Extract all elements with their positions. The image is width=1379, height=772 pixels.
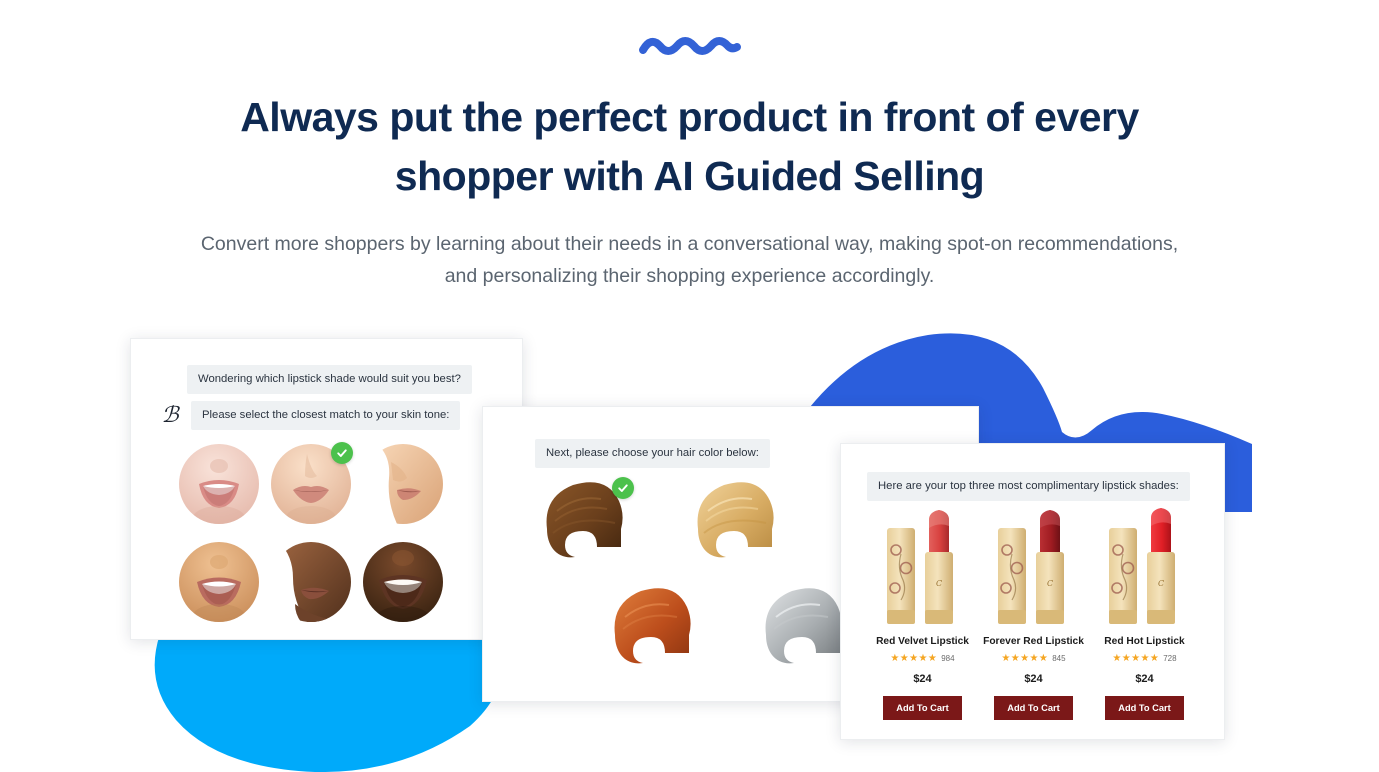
rating-count: 984 — [941, 654, 954, 663]
add-to-cart-button[interactable]: Add To Cart — [994, 696, 1073, 720]
svg-text:C: C — [935, 579, 941, 588]
chat-bubble-question: Wondering which lipstick shade would sui… — [187, 365, 472, 394]
add-to-cart-button[interactable]: Add To Cart — [1105, 696, 1184, 720]
stars-icon: ★★★★★ — [890, 653, 937, 664]
product-price: $24 — [978, 673, 1089, 685]
squiggle-decoration — [0, 34, 1379, 60]
skin-tone-photo — [363, 542, 443, 622]
hair-color-option-blonde[interactable] — [686, 477, 789, 562]
skin-tone-photo — [179, 444, 259, 524]
product-image: C — [978, 502, 1089, 630]
add-to-cart-button[interactable]: Add To Cart — [883, 696, 962, 720]
skin-tone-photo — [179, 542, 259, 622]
skin-tone-option-5[interactable] — [271, 542, 351, 622]
hair-swatch — [686, 477, 789, 562]
product-rating: ★★★★★ 984 — [867, 653, 978, 664]
cyan-blob-decoration — [140, 634, 540, 772]
skin-tone-photo — [363, 444, 443, 524]
skin-tone-option-grid — [179, 444, 443, 622]
page-title: Always put the perfect product in front … — [190, 88, 1190, 206]
chat-bubble-recommendation: Here are your top three most complimenta… — [867, 472, 1190, 501]
skin-tone-option-6[interactable] — [363, 542, 443, 622]
selected-check-icon — [612, 477, 634, 499]
stars-icon: ★★★★★ — [1001, 653, 1048, 664]
skin-tone-card: Wondering which lipstick shade would sui… — [130, 338, 523, 640]
wavy-line-icon — [637, 34, 743, 60]
hair-swatch — [603, 583, 706, 668]
product-name: Red Hot Lipstick — [1089, 636, 1200, 647]
page-subtitle: Convert more shoppers by learning about … — [185, 229, 1195, 292]
skin-tone-option-2[interactable] — [271, 444, 351, 524]
chat-bubble-prompt: Please select the closest match to your … — [191, 401, 460, 430]
stars-icon: ★★★★★ — [1112, 653, 1159, 664]
svg-text:C: C — [1157, 579, 1163, 588]
product-card[interactable]: C Red Hot Lipstick ★★★★★ 728 $24 Add To … — [1089, 502, 1200, 720]
page-root: Always put the perfect product in front … — [0, 0, 1379, 772]
product-name: Forever Red Lipstick — [978, 636, 1089, 647]
product-rating: ★★★★★ 728 — [1089, 653, 1200, 664]
rating-count: 728 — [1163, 654, 1176, 663]
product-image: C — [1089, 502, 1200, 630]
rating-count: 845 — [1052, 654, 1065, 663]
recommendations-card: Here are your top three most complimenta… — [840, 443, 1225, 740]
skin-tone-option-1[interactable] — [179, 444, 259, 524]
brand-avatar-icon: ℬ — [157, 405, 183, 427]
hair-color-option-row-2 — [603, 583, 857, 668]
product-price: $24 — [1089, 673, 1200, 685]
product-card[interactable]: C Red Velvet Lipstick ★★★★★ 984 $24 Add … — [867, 502, 978, 720]
product-card[interactable]: C Forever Red Lipstick ★★★★★ 845 $24 Add… — [978, 502, 1089, 720]
product-image: C — [867, 502, 978, 630]
product-name: Red Velvet Lipstick — [867, 636, 978, 647]
skin-tone-photo — [271, 542, 351, 622]
svg-text:C: C — [1046, 579, 1052, 588]
product-rating: ★★★★★ 845 — [978, 653, 1089, 664]
skin-tone-option-3[interactable] — [363, 444, 443, 524]
chat-bubble-hair-prompt: Next, please choose your hair color belo… — [535, 439, 770, 468]
product-price: $24 — [867, 673, 978, 685]
selected-check-icon — [331, 442, 353, 464]
hair-color-option-brunette[interactable] — [535, 477, 638, 562]
skin-tone-option-4[interactable] — [179, 542, 259, 622]
hair-color-option-red[interactable] — [603, 583, 706, 668]
product-grid: C Red Velvet Lipstick ★★★★★ 984 $24 Add … — [867, 502, 1200, 720]
